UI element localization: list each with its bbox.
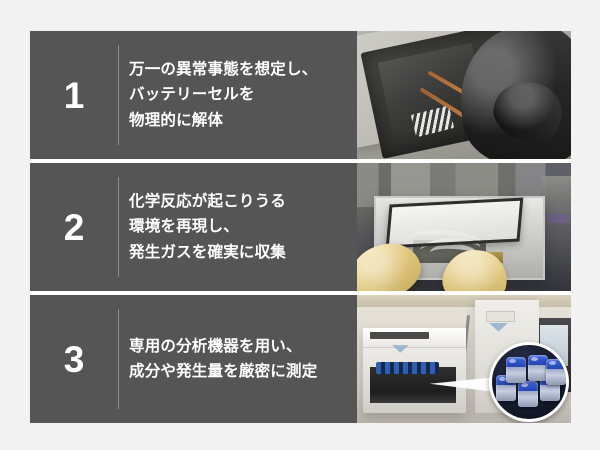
vial (546, 359, 566, 385)
photo3-wall-board (357, 295, 571, 307)
step-number-2: 2 (30, 209, 118, 246)
photo3-tower-panel (486, 311, 515, 322)
photo2-right-rack (541, 176, 571, 278)
photo3-vial-row (376, 362, 440, 374)
steps-panel: 1 万一の異常事態を想定し、 バッテリーセルを 物理的に解体 黒い手袋をした手で… (30, 31, 571, 423)
step-text-2: 化学反応が起こりうる 環境を再現し、 発生ガスを確実に収集 (119, 189, 357, 264)
vial-closeup-inset: 青いキャップのバイアル瓶の拡大 (489, 342, 569, 422)
step-number-1: 1 (30, 77, 118, 114)
photo-glove-box: 黄色いグローブ付きのグローブボックス内で実験を行う装置 (357, 163, 571, 291)
step-content-2: 2 化学反応が起こりうる 環境を再現し、 発生ガスを確実に収集 (30, 163, 357, 291)
step-content-1: 1 万一の異常事態を想定し、 バッテリーセルを 物理的に解体 (30, 31, 357, 159)
step-content-3: 3 専用の分析機器を用い、 成分や発生量を厳密に測定 (30, 295, 357, 423)
step-row: 3 専用の分析機器を用い、 成分や発生量を厳密に測定 (30, 295, 571, 423)
step-text-1: 万一の異常事態を想定し、 バッテリーセルを 物理的に解体 (119, 57, 357, 132)
screenshot-root: 1 万一の異常事態を想定し、 バッテリーセルを 物理的に解体 黒い手袋をした手で… (0, 0, 600, 450)
vial (506, 357, 526, 383)
step-text-3: 専用の分析機器を用い、 成分や発生量を厳密に測定 (119, 334, 357, 384)
photo2-purple-equipment (547, 214, 568, 223)
photo-analyzer: 青いキャップのバイアル瓶の拡大 分析機器と青いキャップのバイアル瓶の拡大円形イン… (357, 295, 571, 423)
vial (528, 355, 548, 381)
photo3-tower-marker-icon (489, 323, 508, 332)
step-number-3: 3 (30, 341, 118, 378)
photo3-analyzer-body (363, 328, 466, 412)
photo2-chamber-lid (385, 198, 523, 249)
photo-battery-disassembly: 黒い手袋をした手でバッテリーセルを物理的に解体している様子 (357, 31, 571, 159)
vial (518, 381, 538, 407)
step-row: 1 万一の異常事態を想定し、 バッテリーセルを 物理的に解体 黒い手袋をした手で… (30, 31, 571, 159)
photo3-machine-marker-icon (392, 345, 408, 353)
photo3-machine-display (370, 332, 430, 339)
step-row: 2 化学反応が起こりうる 環境を再現し、 発生ガスを確実に収集 (30, 163, 571, 291)
